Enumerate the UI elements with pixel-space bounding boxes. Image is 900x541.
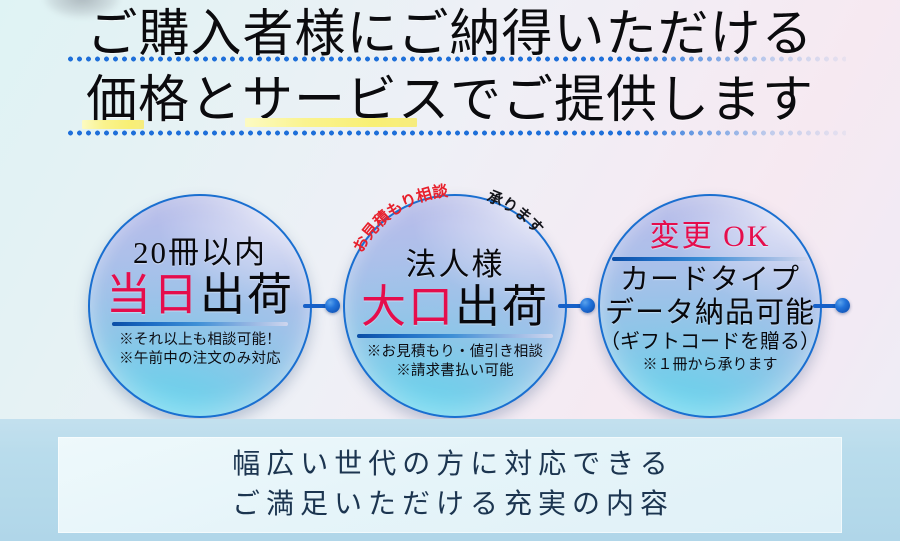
footer-line-1: 幅広い世代の方に対応できる bbox=[226, 445, 673, 485]
circle-2-divider bbox=[357, 334, 553, 338]
dotted-rule-bottom bbox=[66, 130, 846, 136]
feature-circles-row: 20冊以内 当日出荷 ※それ以上も相談可能！ ※午前中の注文のみ対応 bbox=[0, 192, 900, 422]
circle-1-title: 20冊以内 bbox=[133, 236, 267, 270]
circle-3-paren: （ギフトコードを贈る） bbox=[600, 330, 820, 355]
circle-2-content: 法人様 大口出荷 ※お見積もり・値引き相談 ※請求書払い可能 bbox=[345, 196, 565, 416]
connector-dot-3 bbox=[835, 298, 850, 313]
footer-box: 幅広い世代の方に対応できる ご満足いただける充実の内容 bbox=[58, 437, 842, 533]
circle-2-note-2: ※請求書払い可能 bbox=[396, 362, 514, 381]
circle-1-main-red: 当日 bbox=[106, 270, 200, 320]
headline-block: ご購入者様にご納得いただける 価格とサービスでご提供します bbox=[0, 0, 900, 132]
promo-banner: ご購入者様にご納得いただける 価格とサービスでご提供します 20冊以内 当日出荷… bbox=[0, 0, 900, 541]
circle-1-main: 当日出荷 bbox=[106, 270, 294, 320]
feature-circle-corporate-bulk-shipping[interactable]: お見積もり相談 承ります 法人様 大口出荷 ※お見積もり・値引き相談 bbox=[343, 194, 567, 418]
highlight-marker-right bbox=[245, 118, 417, 127]
connector-dot-1 bbox=[325, 298, 340, 313]
circle-3-content: 変更 OK カードタイプ データ納品可能 （ギフトコードを贈る） ※１冊から承り… bbox=[600, 196, 820, 416]
circle-3-heading: 変更 OK bbox=[650, 221, 771, 253]
circle-2-note-1: ※お見積もり・値引き相談 bbox=[367, 343, 543, 362]
highlight-marker-left bbox=[82, 120, 144, 129]
circle-2-title: 法人様 bbox=[406, 248, 505, 282]
circle-2-main: 大口出荷 bbox=[361, 282, 549, 332]
circle-3-note: ※１冊から承ります bbox=[642, 355, 777, 375]
dotted-rule-top bbox=[66, 56, 846, 62]
circle-1-note-2: ※午前中の注文のみ対応 bbox=[119, 350, 281, 369]
feature-circle-card-type-data-delivery[interactable]: 変更 OK カードタイプ データ納品可能 （ギフトコードを贈る） ※１冊から承り… bbox=[598, 194, 822, 418]
circle-1-note-1: ※それ以上も相談可能！ bbox=[119, 331, 281, 350]
circle-1-divider bbox=[112, 322, 288, 326]
circle-2-main-black: 出荷 bbox=[455, 282, 549, 332]
circle-3-line-1: カードタイプ bbox=[620, 264, 800, 297]
circle-3-divider bbox=[612, 257, 808, 261]
circle-2-main-red: 大口 bbox=[361, 282, 455, 332]
feature-circle-same-day-shipping[interactable]: 20冊以内 当日出荷 ※それ以上も相談可能！ ※午前中の注文のみ対応 bbox=[88, 194, 312, 418]
circle-1-main-black: 出荷 bbox=[200, 270, 294, 320]
circle-3-line-2: データ納品可能 bbox=[605, 297, 815, 330]
circle-1-content: 20冊以内 当日出荷 ※それ以上も相談可能！ ※午前中の注文のみ対応 bbox=[90, 196, 310, 416]
footer-line-2: ご満足いただける充実の内容 bbox=[226, 485, 674, 525]
connector-dot-2 bbox=[580, 298, 595, 313]
footer-band: 幅広い世代の方に対応できる ご満足いただける充実の内容 bbox=[0, 419, 900, 541]
